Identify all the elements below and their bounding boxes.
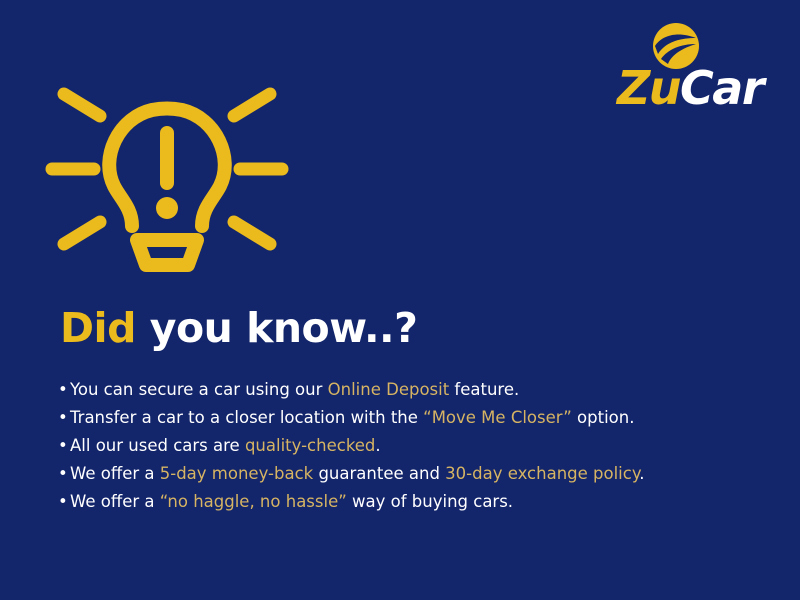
bullet-marker-icon: • bbox=[58, 460, 70, 488]
list-item-highlight: 30-day exchange policy bbox=[445, 464, 639, 483]
list-item-highlight: “Move Me Closer” bbox=[423, 408, 572, 427]
bullet-marker-icon: • bbox=[58, 432, 70, 460]
list-item-text: We offer a bbox=[70, 464, 160, 483]
fact-list: •You can secure a car using our Online D… bbox=[58, 376, 758, 516]
list-item: •We offer a 5-day money-back guarantee a… bbox=[58, 460, 758, 488]
list-item-text: Transfer a car to a closer location with… bbox=[70, 408, 423, 427]
page-title: Did you know..? bbox=[60, 303, 417, 353]
list-item: •We offer a “no haggle, no hassle” way o… bbox=[58, 488, 758, 516]
list-item-highlight: Online Deposit bbox=[328, 380, 450, 399]
list-item-text: All our used cars are bbox=[70, 436, 245, 455]
list-item-text: option. bbox=[572, 408, 635, 427]
list-item-text: . bbox=[639, 464, 644, 483]
logo-text-car: Car bbox=[680, 61, 763, 115]
list-item-highlight: 5-day money-back bbox=[160, 464, 313, 483]
list-item: •All our used cars are quality-checked. bbox=[58, 432, 758, 460]
headline-white-text: you know..? bbox=[136, 304, 417, 352]
list-item-highlight: quality-checked bbox=[245, 436, 375, 455]
zucar-logo: ZuCar bbox=[600, 22, 780, 122]
list-item-text: feature. bbox=[449, 380, 519, 399]
bullet-marker-icon: • bbox=[58, 376, 70, 404]
lightbulb-exclamation-icon bbox=[42, 68, 292, 283]
zucar-wordmark: ZuCar bbox=[600, 60, 780, 116]
slide-canvas: ZuCar Did bbox=[0, 0, 800, 600]
list-item-text: guarantee and bbox=[313, 464, 445, 483]
bullet-marker-icon: • bbox=[58, 404, 70, 432]
bullet-marker-icon: • bbox=[58, 488, 70, 516]
list-item-text: You can secure a car using our bbox=[70, 380, 328, 399]
logo-text-zu: Zu bbox=[617, 61, 680, 115]
headline-gold-text: Did bbox=[60, 304, 136, 352]
list-item-text: We offer a bbox=[70, 492, 160, 511]
list-item-highlight: “no haggle, no hassle” bbox=[160, 492, 347, 511]
list-item-text: way of buying cars. bbox=[347, 492, 513, 511]
list-item: •Transfer a car to a closer location wit… bbox=[58, 404, 758, 432]
list-item-text: . bbox=[375, 436, 380, 455]
list-item: •You can secure a car using our Online D… bbox=[58, 376, 758, 404]
